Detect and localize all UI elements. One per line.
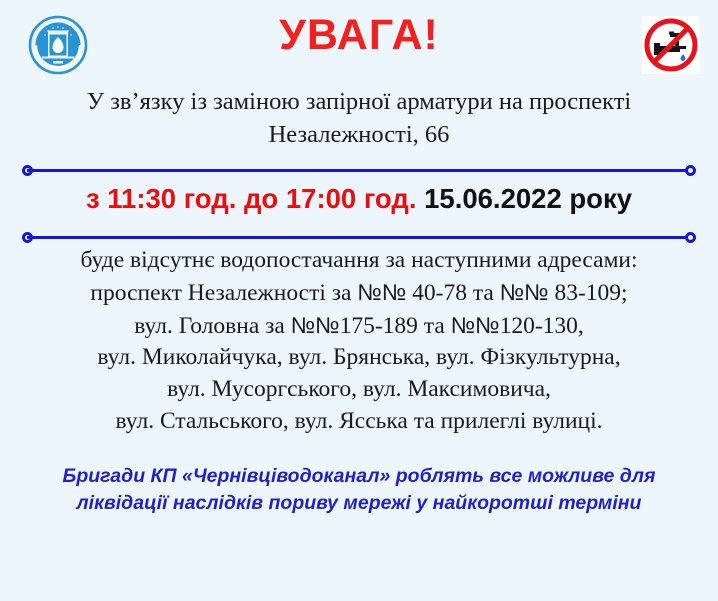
utility-footer-note: Бригади КП «Чернівціводоканал» роблять в… xyxy=(0,463,718,516)
address-line: проспект Незалежності за №№ 40-78 та №№ … xyxy=(30,277,688,310)
poster-header: УВАГА! xyxy=(0,0,718,80)
divider-rule-bottom xyxy=(22,232,696,243)
water-outage-notice-poster: УВАГА! У зв’язку із заміною запірної ар xyxy=(0,0,718,601)
footer-line-1: Бригади КП «Чернівціводоканал» роблять в… xyxy=(48,463,670,489)
intro-line-1: У зв’язку із заміною запірної арматури н… xyxy=(45,86,673,119)
circle-cap-icon xyxy=(685,232,696,243)
outage-date: 15.06.2022 року xyxy=(424,183,632,214)
divider-line xyxy=(27,236,691,239)
outage-time-range: з 11:30 год. до 17:00 год. xyxy=(86,183,417,214)
divider-rule-top xyxy=(22,165,696,176)
outage-time-band: з 11:30 год. до 17:00 год. 15.06.2022 ро… xyxy=(0,165,718,243)
page-title: УВАГА! xyxy=(0,14,718,57)
divider-line xyxy=(27,169,691,172)
no-water-tap-prohibition-icon xyxy=(642,16,700,74)
address-line: вул. Мусоргського, вул. Максимовича, xyxy=(30,374,688,406)
address-line: вул. Миколайчука, вул. Брянська, вул. Фі… xyxy=(30,342,688,374)
circle-cap-icon xyxy=(685,165,696,176)
affected-addresses: буде відсутнє водопостачання за наступни… xyxy=(0,245,718,437)
address-line: вул. Головна за №№175-189 та №№120-130, xyxy=(30,310,688,343)
addresses-lead: буде відсутнє водопостачання за наступни… xyxy=(30,245,688,277)
outage-schedule: з 11:30 год. до 17:00 год. 15.06.2022 ро… xyxy=(0,182,718,215)
address-line: вул. Стальського, вул. Ясська та прилегл… xyxy=(30,406,688,438)
intro-line-2: Незалежності, 66 xyxy=(45,119,673,152)
intro-text: У зв’язку із заміною запірної арматури н… xyxy=(0,86,718,151)
footer-line-2: ліквідації наслідків пориву мережі у най… xyxy=(48,490,670,516)
